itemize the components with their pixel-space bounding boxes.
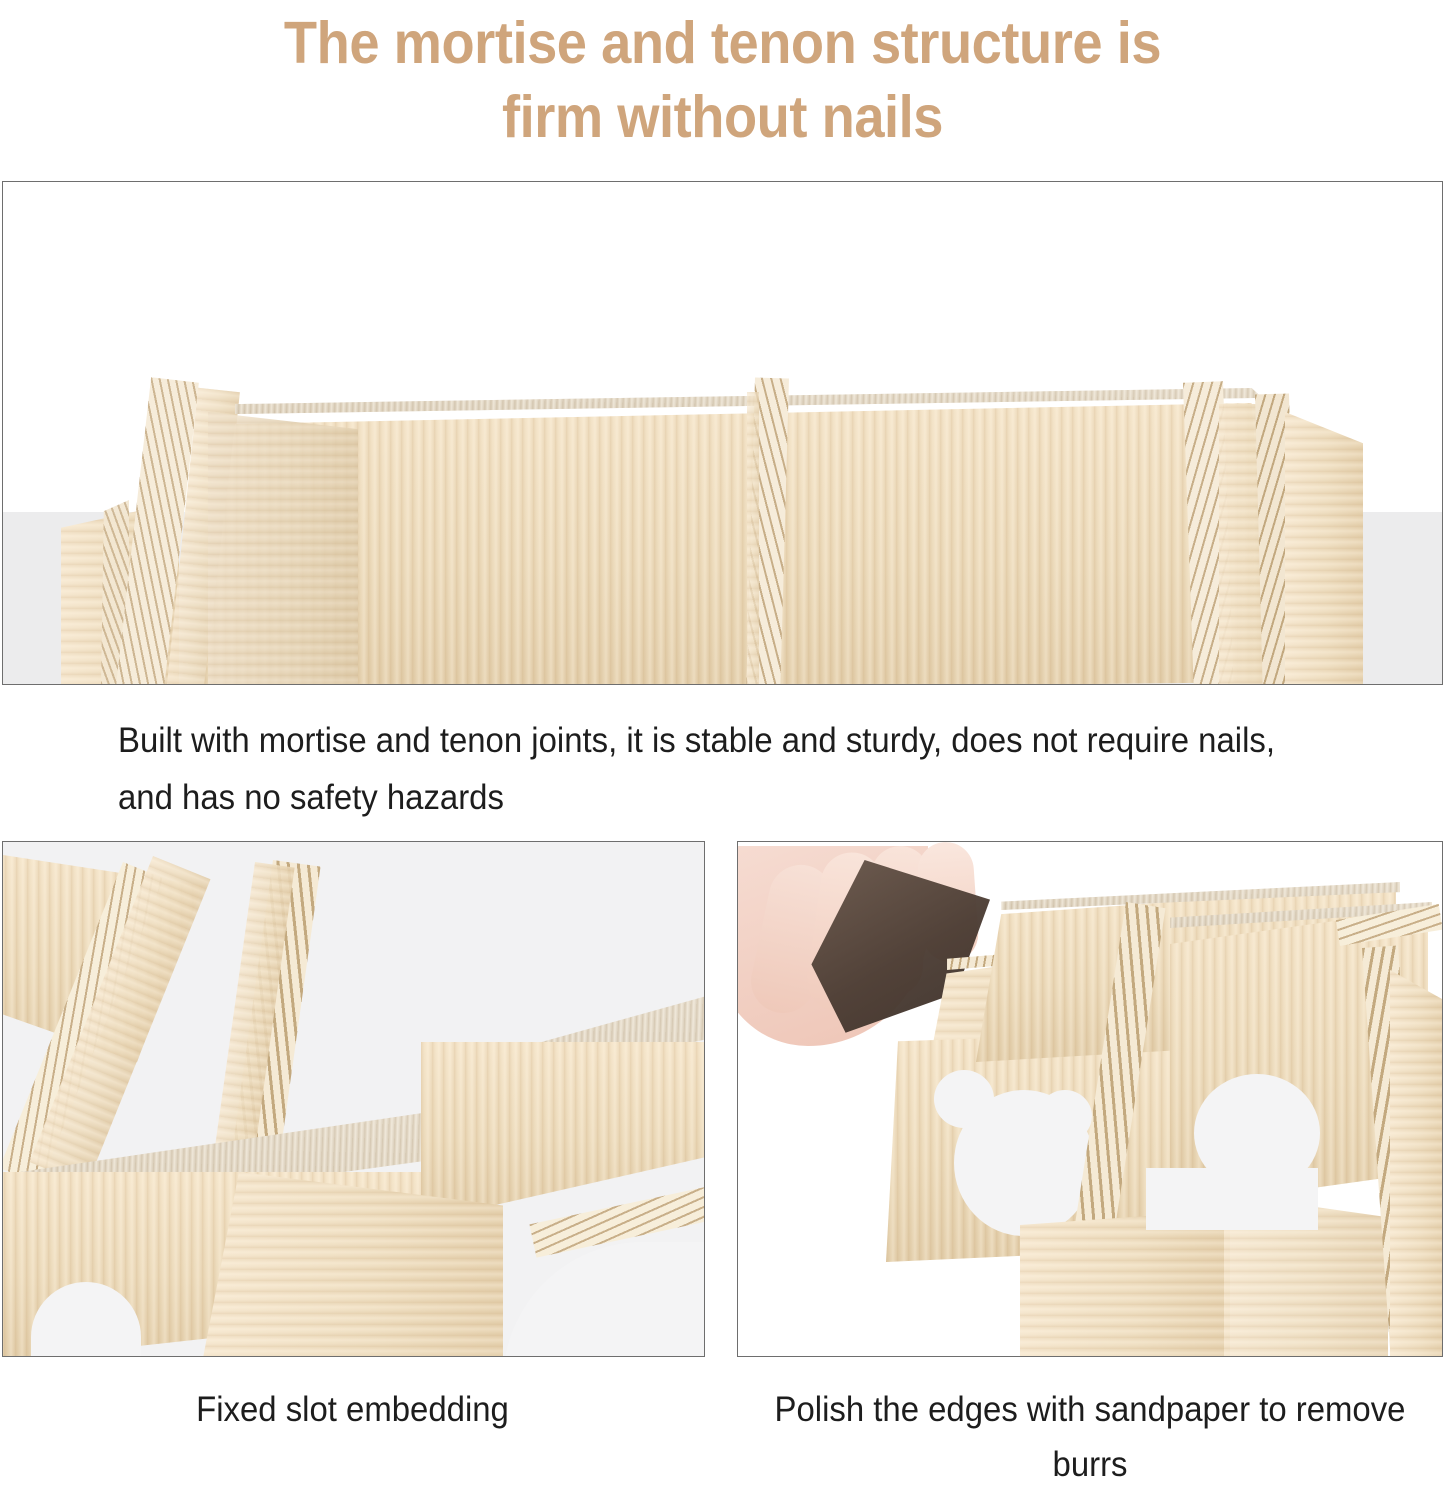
sanding-photo — [738, 842, 1442, 1356]
detail-panel-fixed-slot — [2, 841, 705, 1357]
hero-image-panel — [2, 181, 1443, 685]
caption-sanding: Polish the edges with sandpaper to remov… — [758, 1382, 1422, 1492]
page-title: The mortise and tenon structure is firm … — [0, 0, 1445, 154]
detail-panel-sanding — [737, 841, 1443, 1357]
caption-fixed-slot: Fixed slot embedding — [21, 1382, 684, 1437]
hero-photo — [3, 182, 1442, 684]
hero-caption: Built with mortise and tenon joints, it … — [118, 712, 1284, 826]
fixed-slot-photo — [3, 842, 704, 1356]
page-title-line-1: The mortise and tenon structure is — [58, 6, 1387, 80]
page-title-line-2: firm without nails — [58, 80, 1387, 154]
